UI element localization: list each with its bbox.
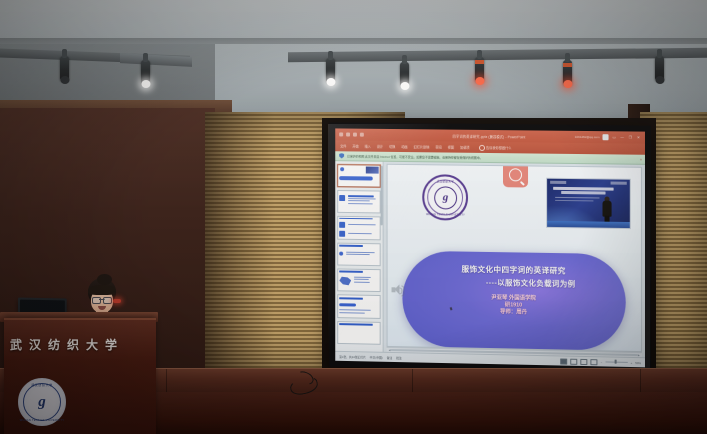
zoom-level[interactable]: 59% xyxy=(635,361,641,365)
thumb-line xyxy=(354,279,368,280)
ceiling-spotlight-icon xyxy=(655,56,664,81)
tab-insert[interactable]: 插入 xyxy=(365,144,371,149)
tab-slideshow[interactable]: 幻灯片放映 xyxy=(414,144,430,149)
tab-file[interactable]: 文件 xyxy=(340,143,346,148)
tell-me-box[interactable]: 告诉我你想做什么 xyxy=(479,144,512,150)
zoom-slider[interactable] xyxy=(605,361,627,362)
thumb-line xyxy=(348,198,375,199)
ribbon-display-options-icon[interactable]: ▭ xyxy=(612,135,617,140)
thumb-line xyxy=(348,224,375,225)
search-magnifier-icon[interactable] xyxy=(503,164,528,188)
presenter-hair-bun xyxy=(97,274,112,285)
thumb-pill xyxy=(339,303,355,306)
restore-button[interactable]: ❐ xyxy=(628,135,633,140)
reading-view-icon[interactable] xyxy=(580,358,587,364)
photo-stage-floor xyxy=(547,221,630,228)
scroll-right-icon[interactable]: ▶ xyxy=(638,354,640,357)
thumb-bar xyxy=(339,218,372,219)
microphone-indicator xyxy=(113,299,121,303)
thumb-title-blob xyxy=(339,176,373,180)
ceiling-spotlight-icon xyxy=(475,57,484,82)
sorter-view-icon[interactable] xyxy=(570,358,577,364)
ceiling-spotlight-icon xyxy=(326,58,335,83)
magnifier-glyph xyxy=(509,169,522,182)
tab-transitions[interactable]: 切换 xyxy=(389,144,395,149)
photo-subheadline xyxy=(561,191,605,194)
tab-home[interactable]: 开始 xyxy=(352,144,358,149)
logo-top-text: 武汉纺织大学 xyxy=(425,179,467,184)
close-button[interactable]: ✕ xyxy=(636,135,641,140)
lightbulb-icon xyxy=(479,144,485,150)
tab-view[interactable]: 视图 xyxy=(448,145,454,150)
logo-ring xyxy=(428,179,464,215)
thumb-bullet xyxy=(339,251,343,255)
glasses-icon xyxy=(92,297,112,302)
thumb-bar xyxy=(339,271,362,273)
thumb-line xyxy=(339,309,370,311)
tell-me-label: 告诉我你想做什么 xyxy=(486,145,512,150)
photo-textline xyxy=(555,200,593,202)
thumb-line xyxy=(348,201,369,202)
language-label[interactable]: 中文(中国) xyxy=(370,355,383,359)
tab-review[interactable]: 审阅 xyxy=(435,144,441,149)
projection-screen: 四字词的英译研究.pptx (兼容模式) - PowerPoint 104126… xyxy=(329,122,651,373)
thumb-line xyxy=(354,281,369,282)
tab-animations[interactable]: 动画 xyxy=(401,144,407,149)
emblem-top-text: 武汉纺织大学 xyxy=(19,383,65,387)
close-icon[interactable]: × xyxy=(640,157,642,161)
ceiling-spotlight-icon xyxy=(60,56,69,81)
thumb-line xyxy=(348,233,371,234)
ppt-body: 武汉纺织大学 g WUHAN TEXTILE UNIVERSITY xyxy=(335,161,645,357)
current-slide[interactable]: 武汉纺织大学 g WUHAN TEXTILE UNIVERSITY xyxy=(387,164,642,352)
thumb-bar xyxy=(339,323,372,326)
speaker-volume-icon[interactable] xyxy=(391,284,403,295)
slide-title-shape: 服饰文化中四字词的英译研究 ----以服饰文化负载词为例 尹亚琴 外国语学院 研… xyxy=(403,250,626,351)
normal-view-icon[interactable] xyxy=(560,358,567,364)
presenter-fringe xyxy=(88,285,116,295)
thumb-logo xyxy=(340,167,344,171)
logo-bottom-text: WUHAN TEXTILE UNIVERSITY xyxy=(425,213,467,217)
ceiling-spotlight-icon xyxy=(563,60,572,85)
minimize-button[interactable]: — xyxy=(620,135,625,140)
slide-thumbnail-6[interactable] xyxy=(337,295,380,319)
slide-author-block: 尹亚琴 外国语学院 研1910 导师：周丹 xyxy=(491,295,536,317)
photo-headline xyxy=(553,187,613,191)
thumb-line xyxy=(346,252,374,253)
slide-thumbnail-5[interactable] xyxy=(337,268,380,292)
thumbnail-scrollbar[interactable] xyxy=(381,166,382,226)
emblem-ring xyxy=(23,383,61,421)
thumb-bar xyxy=(339,244,362,246)
slide-thumbnail-2[interactable] xyxy=(337,190,380,214)
podium-title: 武汉纺织大学 xyxy=(10,336,134,353)
thumb-icon xyxy=(339,222,345,228)
slide-advisor: 导师：周丹 xyxy=(491,309,536,317)
slide-thumbnail-4[interactable] xyxy=(337,242,380,266)
slide-thumbnail-1[interactable] xyxy=(337,164,380,188)
university-logo: 武汉纺织大学 g WUHAN TEXTILE UNIVERSITY xyxy=(423,174,469,221)
thumb-line xyxy=(346,254,370,255)
avatar[interactable] xyxy=(602,134,608,140)
thumb-bar xyxy=(339,297,362,299)
slideshow-icon[interactable] xyxy=(590,359,597,365)
lecture-hall-photo: 四字词的英译研究.pptx (兼容模式) - PowerPoint 104126… xyxy=(0,0,707,434)
slide-thumbnail-7[interactable] xyxy=(337,321,380,345)
thumb-map-shape xyxy=(339,277,351,286)
tab-design[interactable]: 设计 xyxy=(377,144,383,149)
photo-banner-right xyxy=(610,181,626,184)
photo-textline xyxy=(555,197,599,199)
thumb-icon xyxy=(339,231,345,237)
thumb-icon xyxy=(339,195,345,201)
slide-subtitle: ----以服饰文化负载词为例 xyxy=(452,277,576,290)
photo-banner-left xyxy=(550,181,566,184)
thumb-bar xyxy=(348,195,374,197)
slide-counter: 第1张，共24张幻灯片 xyxy=(339,354,366,359)
projected-image: 四字词的英译研究.pptx (兼容模式) - PowerPoint 104126… xyxy=(335,128,645,367)
powerpoint-window: 四字词的英译研究.pptx (兼容模式) - PowerPoint 104126… xyxy=(335,128,645,367)
slide-title: 服饰文化中四字词的英译研究 xyxy=(462,264,566,277)
slide-thumbnail-3[interactable] xyxy=(337,216,380,240)
tab-addins[interactable]: 加载项 xyxy=(460,145,470,150)
notes-button[interactable]: 备注 xyxy=(387,355,393,359)
university-emblem: 武汉纺织大学 g WUHAN TEXTILE UNIVERSITY xyxy=(18,378,66,426)
ceiling-spotlight-icon xyxy=(400,62,409,87)
protected-view-text: 已保护的视图 此文件来自 Internet 位置，可能不安全。如果您不需要编辑，… xyxy=(347,154,482,160)
thumb-line xyxy=(354,277,370,278)
thumb-line xyxy=(339,312,365,313)
shield-icon xyxy=(339,153,344,159)
thumb-line xyxy=(348,203,372,204)
zoom-in-icon[interactable]: + xyxy=(631,360,633,364)
zoom-out-icon[interactable]: − xyxy=(601,360,603,364)
slide-canvas-area: 武汉纺织大学 g WUHAN TEXTILE UNIVERSITY xyxy=(384,162,645,357)
account-name[interactable]: 1041262@qq.com xyxy=(575,135,600,139)
thumb-image xyxy=(366,166,379,173)
ceiling-spotlight-icon xyxy=(141,60,150,85)
comments-button[interactable]: 批注 xyxy=(396,356,402,360)
photo-presenter xyxy=(601,196,612,222)
conference-photo xyxy=(546,178,631,229)
emblem-bottom-text: WUHAN TEXTILE UNIVERSITY xyxy=(19,419,65,422)
slide-thumbnail-pane[interactable] xyxy=(335,161,383,352)
